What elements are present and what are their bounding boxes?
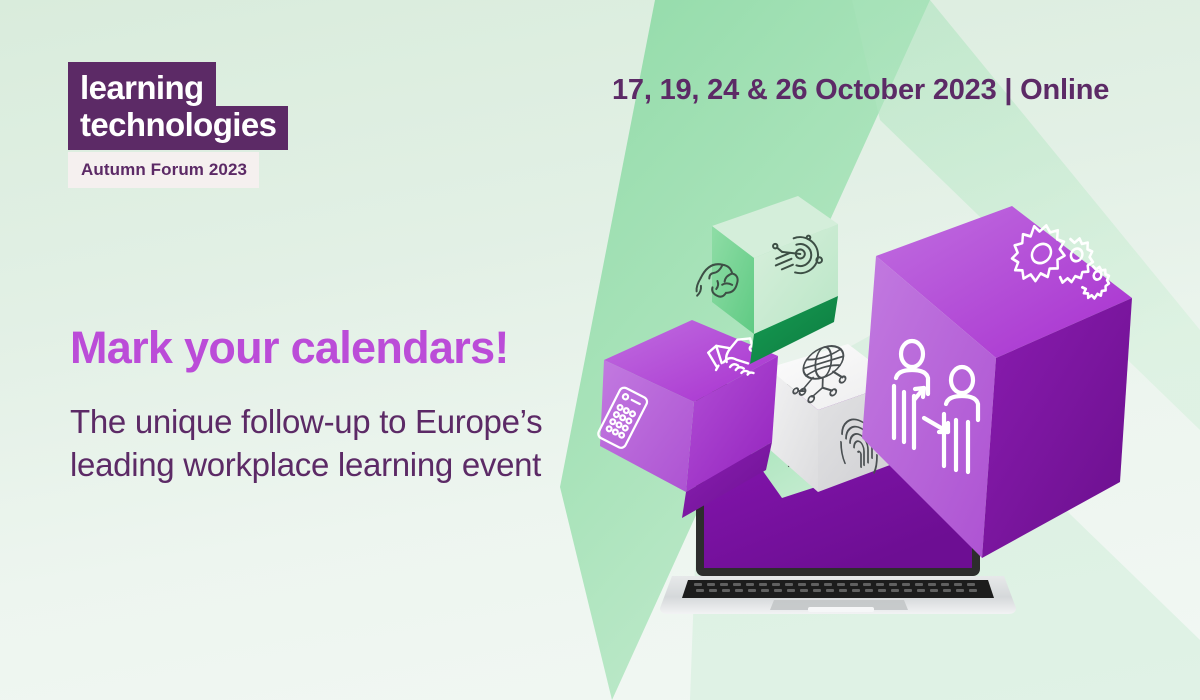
logo-subtitle: Autumn Forum 2023 (68, 152, 259, 188)
logo[interactable]: learning technologies Autumn Forum 2023 (68, 62, 300, 188)
laptop-front-notch (808, 607, 874, 612)
page-subtitle: The unique follow-up to Europe’s leading… (70, 400, 575, 486)
event-date-line: 17, 19, 24 & 26 October 2023 | Online (612, 74, 1109, 107)
page-title: Mark your calendars! (70, 322, 509, 374)
promotional-banner: learning technologies Autumn Forum 2023 … (0, 0, 1200, 700)
logo-line-2: technologies (68, 106, 288, 150)
logo-line-1: learning (68, 62, 216, 106)
isometric-cubes-laptop-illustration (560, 170, 1200, 630)
